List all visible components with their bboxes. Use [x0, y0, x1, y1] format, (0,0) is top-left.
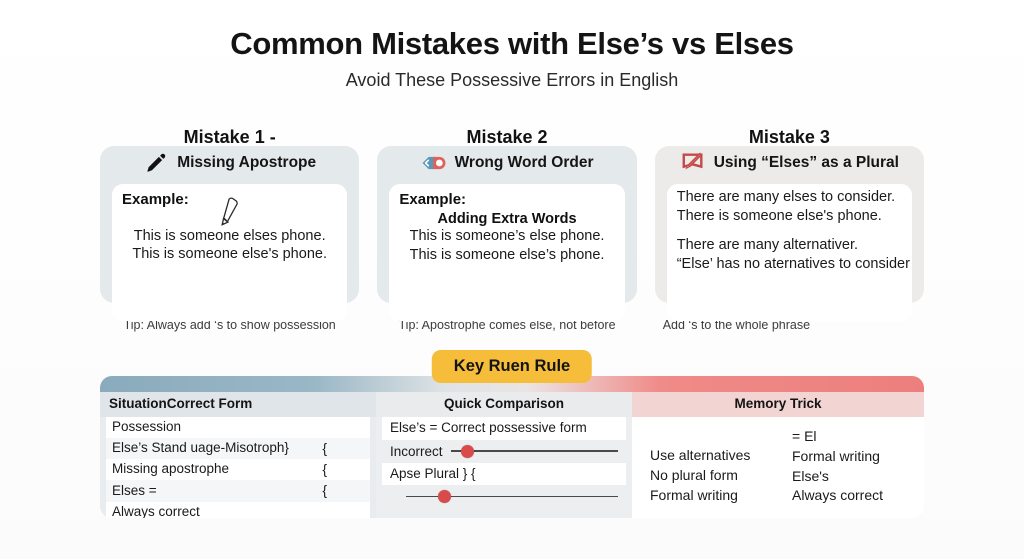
key-rule-badge: Key Ruen Rule — [432, 350, 592, 383]
slider-1-label: Incorrect — [390, 444, 443, 459]
mistake-cards-row: Mistake 1 - Missing Apostrope Example: — [100, 128, 924, 333]
card-2-line-1: This is someone’s else phone. — [399, 227, 614, 246]
table-mid-body: Else’s = Correct possessive form Incorre… — [376, 417, 632, 507]
memory-trick-column-a: Use alternatives No plural form Formal w… — [650, 427, 774, 507]
row-text: Always correct — [112, 504, 200, 518]
memory-a-line-2: No plural form — [650, 466, 774, 486]
table-row: Else’s Stand uage-Misotroph} { — [106, 438, 370, 459]
table-left-rows: Possession Else’s Stand uage-Misotroph} … — [100, 417, 376, 518]
slider-2-knob[interactable] — [438, 490, 451, 503]
row-text: Elses = — [112, 483, 157, 500]
card-1-line-2: This is someone else's phone. — [122, 245, 337, 264]
card-2-example-box: Example: Adding Extra Words This is some… — [389, 184, 624, 321]
card-3-line-2: There is someone else's phone. — [677, 207, 902, 226]
memory-a-line-1: Use alternatives — [650, 446, 774, 466]
row-brace: { — [322, 461, 361, 478]
slider-1-track — [451, 450, 618, 452]
card-3-subheading: Using “Elses” as a Plural — [714, 154, 899, 172]
table-row: Missing apostrophe { — [106, 459, 370, 480]
memory-trick-column-b: = El Formal writing Else's Always correc… — [792, 427, 883, 507]
card-3-example-box: There are many elses to consider. There … — [667, 184, 912, 321]
table-columns: SituationCorrect Form Possession Else’s … — [100, 392, 924, 518]
memory-b-line-2: Formal writing — [792, 447, 883, 467]
table-row: Always correct — [106, 502, 370, 518]
comparison-row-2: Apse Plural } { — [382, 463, 626, 486]
infographic-canvas: Common Mistakes with Else’s vs Elses Avo… — [0, 0, 1024, 559]
table-left-header: SituationCorrect Form — [100, 392, 376, 417]
row-text: Missing apostrophe — [112, 461, 229, 478]
mistake-card-1: Mistake 1 - Missing Apostrope Example: — [100, 128, 359, 333]
slider-1-knob[interactable] — [461, 445, 474, 458]
card-2-subheading: Wrong Word Order — [455, 154, 594, 172]
page-title: Common Mistakes with Else’s vs Elses — [0, 26, 1024, 62]
mistake-card-2: Mistake 2 Wrong Word Order Example: Addi… — [377, 128, 636, 333]
card-3-line-1: There are many elses to consider. — [677, 188, 902, 207]
card-3-line-3: There are many alternativer. — [677, 236, 902, 255]
card-2-heading: Mistake 2 — [377, 128, 636, 148]
table-row: Possession — [106, 417, 370, 438]
table-mid-header: Quick Comparison — [376, 392, 632, 417]
comparison-slider-row-1: Incorrect — [382, 440, 626, 463]
card-2-subheading-row: Wrong Word Order — [377, 150, 636, 176]
page-subtitle: Avoid These Possessive Errors in English — [0, 70, 1024, 92]
table-column-situation: SituationCorrect Form Possession Else’s … — [100, 392, 376, 518]
card-2-line-2: This is someone else’s phone. — [399, 246, 614, 265]
summary-table: SituationCorrect Form Possession Else’s … — [100, 376, 924, 518]
pencil-outline-icon — [220, 197, 239, 227]
table-column-comparison: Quick Comparison Else’s = Correct posses… — [376, 392, 632, 518]
flag-pen-icon — [680, 151, 706, 175]
card-3-line-4: “Else’ has no aternatives to consider — [677, 255, 902, 274]
card-1-subheading: Missing Apostrope — [177, 154, 316, 172]
card-3-heading: Mistake 3 — [655, 128, 924, 148]
card-3-subheading-row: Using “Elses” as a Plural — [655, 150, 924, 176]
mistake-card-3: Mistake 3 Using “Elses” as a Plural Ther… — [655, 128, 924, 333]
card-1-heading: Mistake 1 - — [100, 128, 359, 148]
comparison-slider-row-2 — [382, 485, 626, 507]
card-1-example-box: Example: This is someone elses phone. Th… — [112, 184, 347, 321]
card-1-subheading-row: Missing Apostrope — [100, 150, 359, 176]
table-row: Elses = { — [106, 480, 370, 501]
toggle-switch-icon — [421, 151, 447, 175]
memory-b-line-3: Else's — [792, 467, 883, 487]
memory-b-line-1: = El — [792, 427, 883, 447]
card-1-line-1: This is someone elses phone. — [122, 227, 337, 246]
card-2-center-line: Adding Extra Words — [399, 211, 614, 228]
table-right-header: Memory Trick — [632, 392, 924, 417]
card-2-example-label: Example: — [399, 192, 614, 209]
row-brace: { — [322, 440, 361, 457]
header: Common Mistakes with Else’s vs Elses Avo… — [0, 26, 1024, 91]
pencil-solid-icon — [143, 151, 169, 175]
row-text: Else’s Stand uage-Misotroph} — [112, 440, 289, 457]
row-brace: { — [322, 482, 361, 499]
table-column-memory-trick: Memory Trick Use alternatives No plural … — [632, 392, 924, 518]
slider-1[interactable] — [451, 444, 618, 458]
card-3-spacer — [677, 227, 902, 236]
memory-a-line-3: Formal writing — [650, 486, 774, 506]
table-right-body: Use alternatives No plural form Formal w… — [632, 417, 924, 515]
comparison-row-1: Else’s = Correct possessive form — [382, 417, 626, 440]
row-text: Possession — [112, 419, 181, 436]
memory-b-line-4: Always correct — [792, 486, 883, 506]
slider-2[interactable] — [398, 489, 618, 503]
